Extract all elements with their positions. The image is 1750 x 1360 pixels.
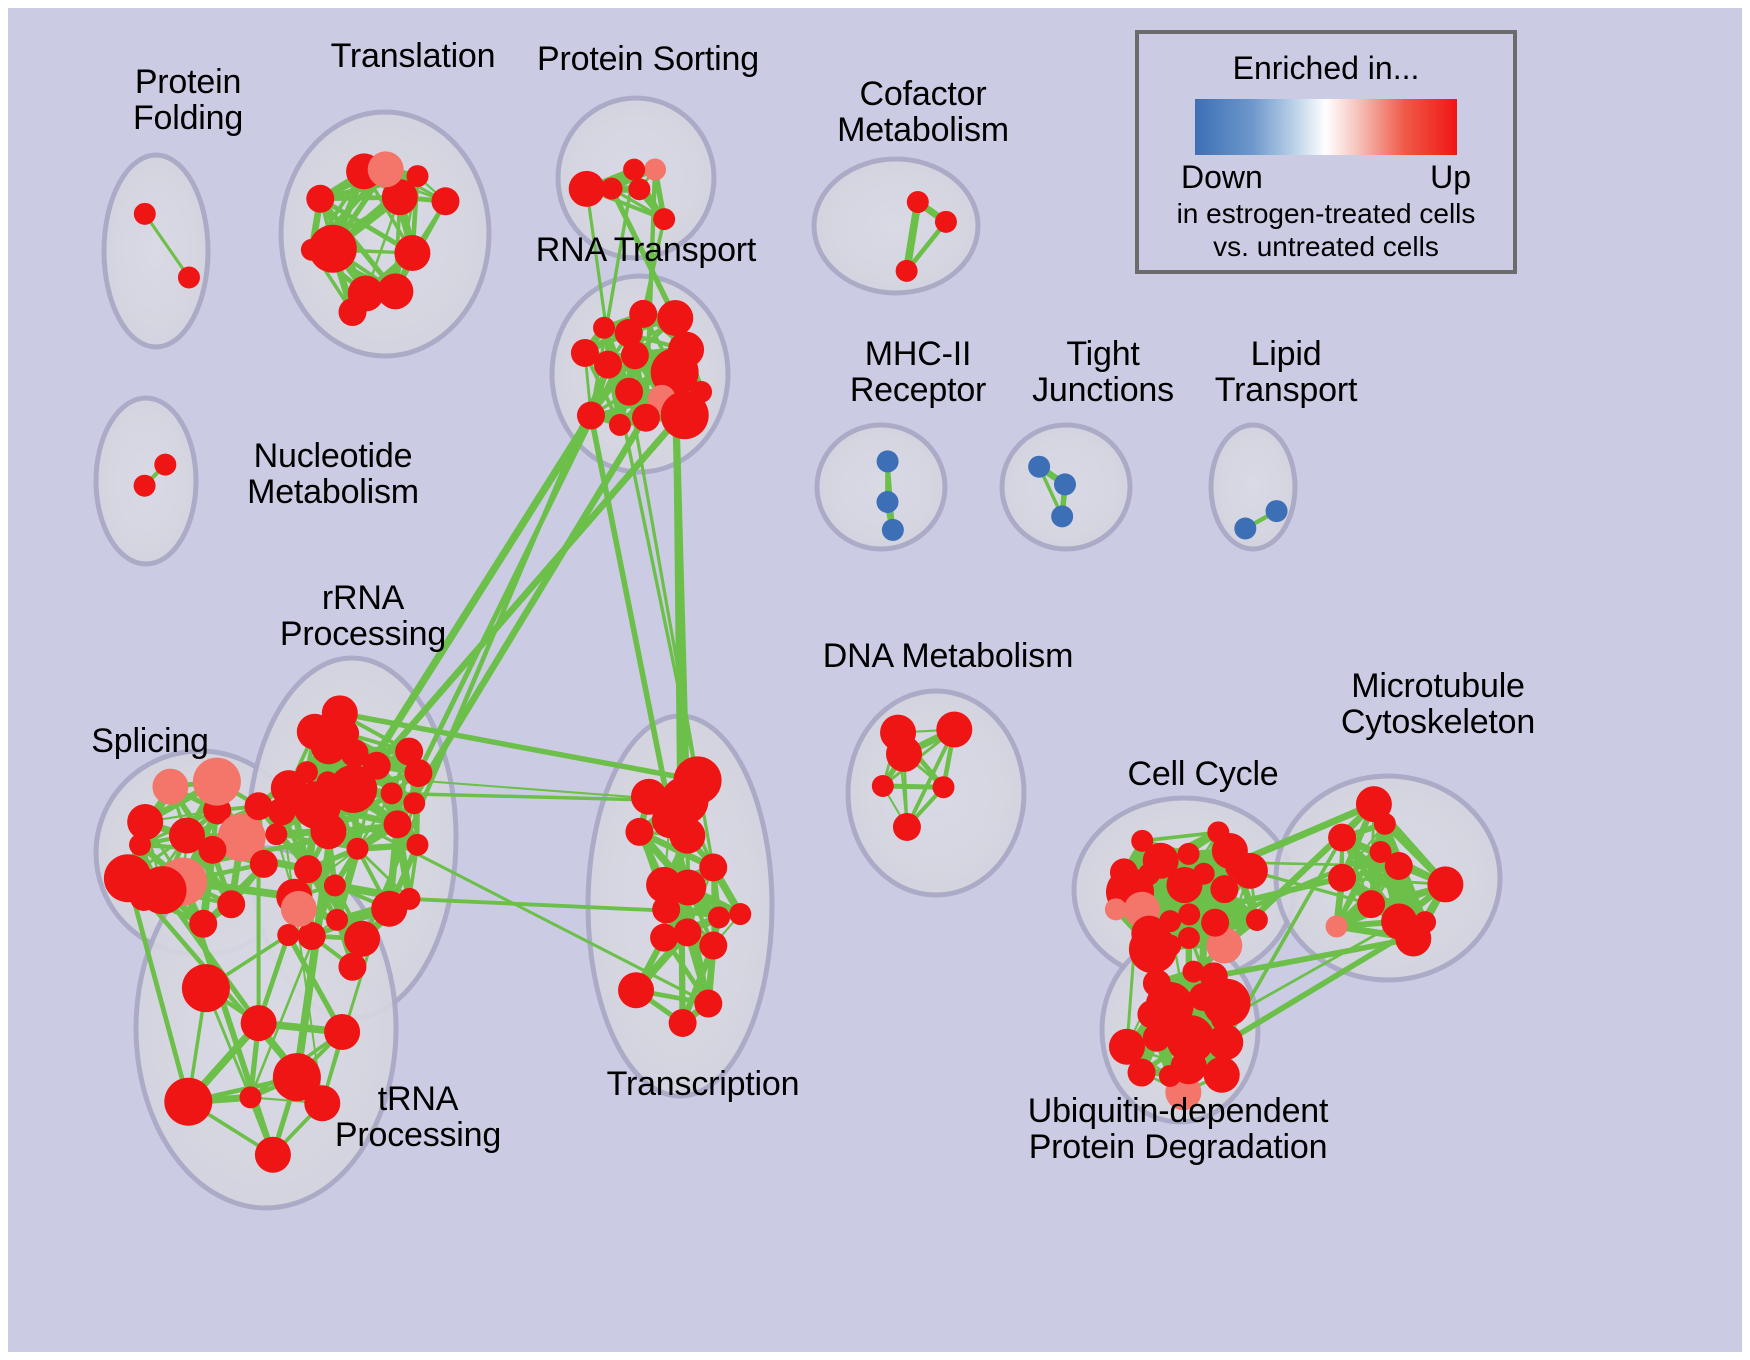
network-node[interactable]: [1234, 518, 1256, 540]
network-node[interactable]: [189, 910, 217, 938]
network-node[interactable]: [309, 225, 357, 273]
network-node[interactable]: [348, 275, 384, 311]
network-node[interactable]: [609, 414, 631, 436]
cluster-label-dna-metabolism: DNA Metabolism: [808, 638, 1088, 674]
network-node[interactable]: [297, 714, 333, 750]
network-node[interactable]: [615, 378, 643, 406]
network-node[interactable]: [877, 491, 899, 513]
network-node[interactable]: [1171, 1048, 1207, 1084]
network-node[interactable]: [1326, 915, 1348, 937]
legend-gradient-bar: [1195, 99, 1457, 155]
network-node[interactable]: [886, 736, 922, 772]
cluster-label-microtubule-cytoskeleton: Microtubule Cytoskeleton: [1298, 668, 1578, 740]
network-node[interactable]: [241, 1005, 277, 1041]
network-node[interactable]: [404, 759, 432, 787]
network-node[interactable]: [1201, 909, 1229, 937]
network-node[interactable]: [1178, 927, 1200, 949]
network-node[interactable]: [347, 838, 369, 860]
network-node[interactable]: [1028, 456, 1050, 478]
legend-low-label: Down: [1181, 159, 1263, 196]
network-node[interactable]: [1427, 866, 1463, 902]
network-node[interactable]: [1374, 813, 1396, 835]
network-node[interactable]: [255, 1137, 291, 1173]
network-node[interactable]: [306, 185, 334, 213]
cluster-label-splicing: Splicing: [60, 723, 240, 759]
network-node[interactable]: [629, 300, 657, 328]
network-node[interactable]: [628, 178, 650, 200]
network-node[interactable]: [281, 891, 317, 927]
network-node[interactable]: [661, 391, 709, 439]
network-node[interactable]: [882, 519, 904, 541]
network-node[interactable]: [406, 834, 428, 856]
network-node[interactable]: [326, 909, 348, 931]
network-node[interactable]: [1128, 1059, 1156, 1087]
network-node[interactable]: [646, 867, 682, 903]
network-node[interactable]: [1203, 979, 1251, 1027]
network-node[interactable]: [169, 818, 205, 854]
network-node[interactable]: [394, 235, 430, 271]
network-node[interactable]: [893, 813, 921, 841]
network-node[interactable]: [152, 769, 188, 805]
network-node[interactable]: [1357, 890, 1385, 918]
cluster-label-ubiquitin-protein-degradation: Ubiquitin-dependent Protein Degradation: [988, 1093, 1368, 1165]
network-node[interactable]: [1105, 898, 1127, 920]
network-node[interactable]: [932, 776, 954, 798]
cluster-label-lipid-transport: Lipid Transport: [1176, 336, 1396, 408]
cluster-ellipse-mhc-ii-receptor: [817, 425, 945, 549]
network-node[interactable]: [381, 782, 403, 804]
network-node[interactable]: [1051, 505, 1073, 527]
network-node[interactable]: [368, 151, 404, 187]
network-node[interactable]: [277, 924, 299, 946]
network-node[interactable]: [601, 178, 623, 200]
network-node[interactable]: [673, 918, 701, 946]
cluster-label-rna-transport: RNA Transport: [506, 232, 786, 268]
network-node[interactable]: [245, 792, 273, 820]
legend-caption-line2: vs. untreated cells: [1139, 231, 1513, 262]
cluster-ellipse-protein-folding: [104, 155, 208, 347]
network-node[interactable]: [271, 770, 307, 806]
network-node[interactable]: [317, 771, 339, 793]
network-node[interactable]: [577, 402, 605, 430]
network-node[interactable]: [154, 454, 176, 476]
network-node[interactable]: [1225, 857, 1247, 879]
network-node[interactable]: [669, 818, 705, 854]
network-node[interactable]: [623, 159, 645, 181]
network-node[interactable]: [669, 1009, 697, 1037]
network-node[interactable]: [324, 875, 346, 897]
network-node[interactable]: [383, 810, 411, 838]
cluster-label-cofactor-metabolism: Cofactor Metabolism: [803, 76, 1043, 148]
cluster-label-rrna-processing: rRNA Processing: [248, 580, 478, 652]
network-node[interactable]: [344, 921, 380, 957]
network-node[interactable]: [1395, 920, 1431, 956]
network-node[interactable]: [657, 300, 693, 336]
network-node[interactable]: [632, 404, 660, 432]
cluster-label-translation: Translation: [288, 38, 538, 74]
network-node[interactable]: [294, 855, 322, 883]
inter-cluster-edge: [418, 314, 643, 773]
network-node[interactable]: [324, 1014, 360, 1050]
network-node[interactable]: [1054, 473, 1076, 495]
network-node[interactable]: [1204, 1057, 1240, 1093]
network-node[interactable]: [1210, 875, 1238, 903]
network-node[interactable]: [127, 804, 163, 840]
network-node[interactable]: [935, 211, 957, 233]
network-node[interactable]: [1328, 864, 1356, 892]
network-node[interactable]: [708, 906, 730, 928]
network-node[interactable]: [178, 266, 200, 288]
figure-root: Protein FoldingTranslationNucleotide Met…: [0, 0, 1750, 1360]
network-node[interactable]: [398, 888, 420, 910]
network-node[interactable]: [936, 712, 972, 748]
network-node[interactable]: [877, 450, 899, 472]
network-node[interactable]: [239, 1086, 261, 1108]
network-node[interactable]: [1146, 982, 1194, 1030]
network-node[interactable]: [431, 187, 459, 215]
network-node[interactable]: [674, 756, 722, 804]
network-node[interactable]: [1129, 925, 1177, 973]
legend-caption-line1: in estrogen-treated cells: [1139, 198, 1513, 229]
network-node[interactable]: [699, 853, 727, 881]
network-node[interactable]: [907, 191, 929, 213]
network-canvas: Protein FoldingTranslationNucleotide Met…: [8, 8, 1742, 1352]
network-node[interactable]: [593, 317, 615, 339]
network-node[interactable]: [1143, 843, 1179, 879]
network-node[interactable]: [182, 964, 230, 1012]
network-node[interactable]: [134, 475, 156, 497]
network-node[interactable]: [650, 924, 678, 952]
network-node[interactable]: [250, 850, 278, 878]
cluster-label-nucleotide-metabolism: Nucleotide Metabolism: [203, 438, 463, 510]
network-node[interactable]: [139, 866, 187, 914]
network-node[interactable]: [699, 932, 727, 960]
network-node[interactable]: [1266, 500, 1288, 522]
network-node[interactable]: [164, 1078, 212, 1126]
network-node[interactable]: [594, 351, 622, 379]
network-node[interactable]: [618, 972, 654, 1008]
cluster-label-transcription: Transcription: [573, 1066, 833, 1102]
network-node[interactable]: [694, 990, 722, 1018]
network-node[interactable]: [338, 953, 366, 981]
network-node[interactable]: [403, 792, 425, 814]
cluster-label-trna-processing: tRNA Processing: [308, 1081, 528, 1153]
network-node[interactable]: [1193, 863, 1215, 885]
network-node[interactable]: [1178, 903, 1200, 925]
network-node[interactable]: [729, 903, 751, 925]
network-node[interactable]: [872, 775, 894, 797]
cluster-label-protein-folding: Protein Folding: [88, 64, 288, 136]
network-node[interactable]: [625, 818, 653, 846]
network-node[interactable]: [134, 203, 156, 225]
network-node[interactable]: [644, 159, 666, 181]
network-node[interactable]: [1385, 852, 1413, 880]
network-node[interactable]: [217, 890, 245, 918]
network-node[interactable]: [265, 823, 287, 845]
network-node[interactable]: [1178, 843, 1200, 865]
legend-box: Enriched in... Down Up in estrogen-treat…: [1135, 30, 1517, 274]
network-node[interactable]: [569, 171, 605, 207]
cluster-label-protein-sorting: Protein Sorting: [508, 41, 788, 77]
network-node[interactable]: [896, 260, 918, 282]
legend-title: Enriched in...: [1139, 50, 1513, 87]
network-node[interactable]: [1246, 909, 1268, 931]
legend-high-label: Up: [1430, 159, 1471, 196]
cluster-label-cell-cycle: Cell Cycle: [1093, 756, 1313, 792]
network-node[interactable]: [193, 758, 241, 806]
network-node[interactable]: [653, 208, 675, 230]
network-node[interactable]: [1328, 824, 1356, 852]
